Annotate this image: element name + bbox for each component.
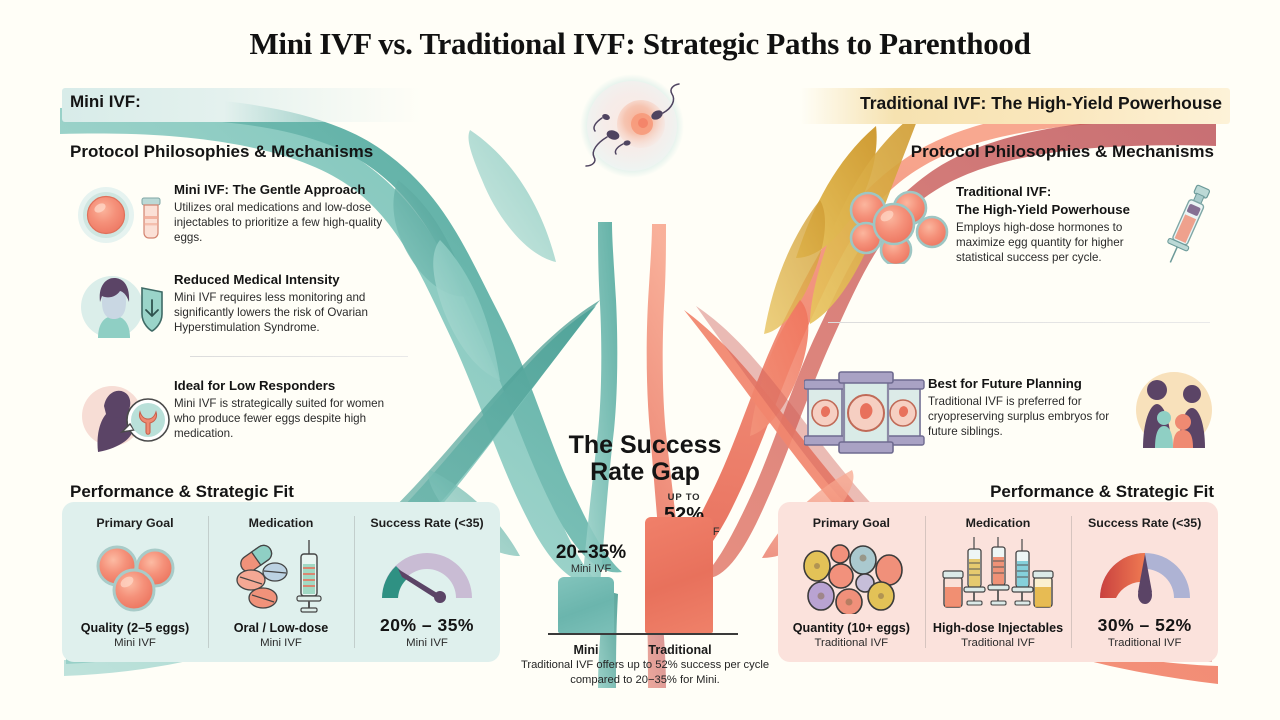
bar-label-mini: Mini <box>546 643 626 657</box>
feature-title: Ideal for Low Responders <box>174 378 402 394</box>
syringes-and-vials-icon <box>940 537 1056 615</box>
feature-body: Employs high-dose hormones to maximize e… <box>956 220 1154 266</box>
left-section-heading: Protocol Philosophies & Mechanisms <box>70 142 373 162</box>
feature-body: Traditional IVF is preferred for cryopre… <box>928 394 1126 440</box>
metric-sub: Mini IVF <box>114 637 156 649</box>
success-rate-bar-chart: Mini Traditional <box>540 495 755 645</box>
traditional-performance-panel: Primary Goal <box>778 502 1218 662</box>
metric-medication-mini: Medication <box>208 502 354 662</box>
infographic-canvas: Mini IVF vs. Traditional IVF: Strategic … <box>0 0 1280 720</box>
woman-with-uterus-speech-icon <box>76 378 174 452</box>
mini-ivf-banner-label: Mini IVF: <box>70 92 141 112</box>
center-title-line1: The Success <box>545 432 745 459</box>
woman-with-shield-icon <box>76 272 174 342</box>
metric-header: Success Rate (<35) <box>1088 516 1201 530</box>
traditional-ivf-banner: Traditional IVF: The High-Yield Powerhou… <box>800 88 1230 124</box>
feature-mini-reduced-intensity: Reduced Medical Intensity Mini IVF requi… <box>76 272 406 342</box>
metric-success-rate-traditional: Success Rate (<35) 30% – 52% Traditional… <box>1071 502 1218 662</box>
metric-value: High-dose Injectables <box>933 621 1063 636</box>
bar-traditional <box>645 517 713 633</box>
feature-title: Best for Future Planning <box>928 376 1126 392</box>
metric-header: Success Rate (<35) <box>370 516 483 530</box>
syringe-3 <box>1012 539 1033 605</box>
feature-title-line2: The High-Yield Powerhouse <box>956 202 1154 218</box>
right-section-heading: Protocol Philosophies & Mechanisms <box>911 142 1214 162</box>
family-silhouette-icon <box>1126 368 1222 452</box>
metric-header: Primary Goal <box>96 516 173 530</box>
egg-and-vial-icon <box>76 182 174 248</box>
feature-mini-gentle-approach: Mini IVF: The Gentle Approach Utilizes o… <box>76 182 406 248</box>
center-chart-title: The Success Rate Gap <box>545 432 745 485</box>
pills-and-syringe-icon <box>231 538 331 614</box>
metric-value: 30% – 52% <box>1098 615 1192 636</box>
bar-mini <box>558 577 614 633</box>
center-title-line2: Rate Gap <box>545 459 745 486</box>
feature-body: Mini IVF is strategically suited for wom… <box>174 396 402 442</box>
metric-success-rate-mini: Success Rate (<35) 20% – 35% Mini IVF <box>354 502 500 662</box>
right-divider <box>828 322 1210 323</box>
metric-sub: Traditional IVF <box>815 637 889 649</box>
gauge-icon <box>1090 540 1200 606</box>
left-divider <box>190 356 408 357</box>
metric-header: Medication <box>249 516 314 530</box>
mini-performance-panel: Primary Goal <box>62 502 500 662</box>
feature-title: Mini IVF: The Gentle Approach <box>174 182 402 198</box>
many-eggs-icon <box>797 538 905 614</box>
bar-label-traditional: Traditional <box>630 643 730 657</box>
metric-value: Quality (2–5 eggs) <box>81 621 189 636</box>
egg-and-sperm-icon <box>580 74 684 178</box>
metric-header: Primary Goal <box>813 516 890 530</box>
metric-sub: Traditional IVF <box>961 637 1035 649</box>
feature-mini-low-responders: Ideal for Low Responders Mini IVF is str… <box>76 378 406 452</box>
cryo-tanks-embryos-icon <box>804 368 928 458</box>
metric-value: Oral / Low-dose <box>234 621 328 636</box>
syringe-icon <box>1156 180 1218 270</box>
feature-body: Mini IVF requires less monitoring and si… <box>174 290 404 336</box>
right-performance-heading: Performance & Strategic Fit <box>990 482 1214 502</box>
metric-value: Quantity (10+ eggs) <box>793 621 910 636</box>
metric-sub: Traditional IVF <box>1108 637 1182 649</box>
metric-primary-goal-traditional: Primary Goal <box>778 502 925 662</box>
metric-value: 20% – 35% <box>380 615 474 636</box>
syringe-1 <box>964 537 985 605</box>
metric-primary-goal-mini: Primary Goal <box>62 502 208 662</box>
feature-title-line1: Traditional IVF: <box>956 184 1154 200</box>
page-title: Mini IVF vs. Traditional IVF: Strategic … <box>0 26 1280 62</box>
egg-cluster-icon <box>836 180 956 264</box>
metric-medication-traditional: Medication <box>925 502 1072 662</box>
mini-ivf-banner: Mini IVF: <box>62 88 422 122</box>
metric-sub: Mini IVF <box>406 637 448 649</box>
center-footnote: Traditional IVF offers up to 52% success… <box>520 658 770 687</box>
feature-trad-future-planning: Best for Future Planning Traditional IVF… <box>804 368 1228 458</box>
traditional-ivf-banner-label: Traditional IVF: The High-Yield Powerhou… <box>860 93 1222 114</box>
three-eggs-icon <box>87 540 183 612</box>
feature-title: Reduced Medical Intensity <box>174 272 404 288</box>
gauge-icon <box>372 540 482 606</box>
metric-header: Medication <box>966 516 1031 530</box>
syringe-2 <box>988 537 1009 605</box>
chart-baseline <box>548 633 738 635</box>
left-performance-heading: Performance & Strategic Fit <box>70 482 294 502</box>
metric-sub: Mini IVF <box>260 637 302 649</box>
feature-trad-high-yield: Traditional IVF: The High-Yield Powerhou… <box>836 180 1230 270</box>
feature-body: Utilizes oral medications and low-dose i… <box>174 200 402 246</box>
